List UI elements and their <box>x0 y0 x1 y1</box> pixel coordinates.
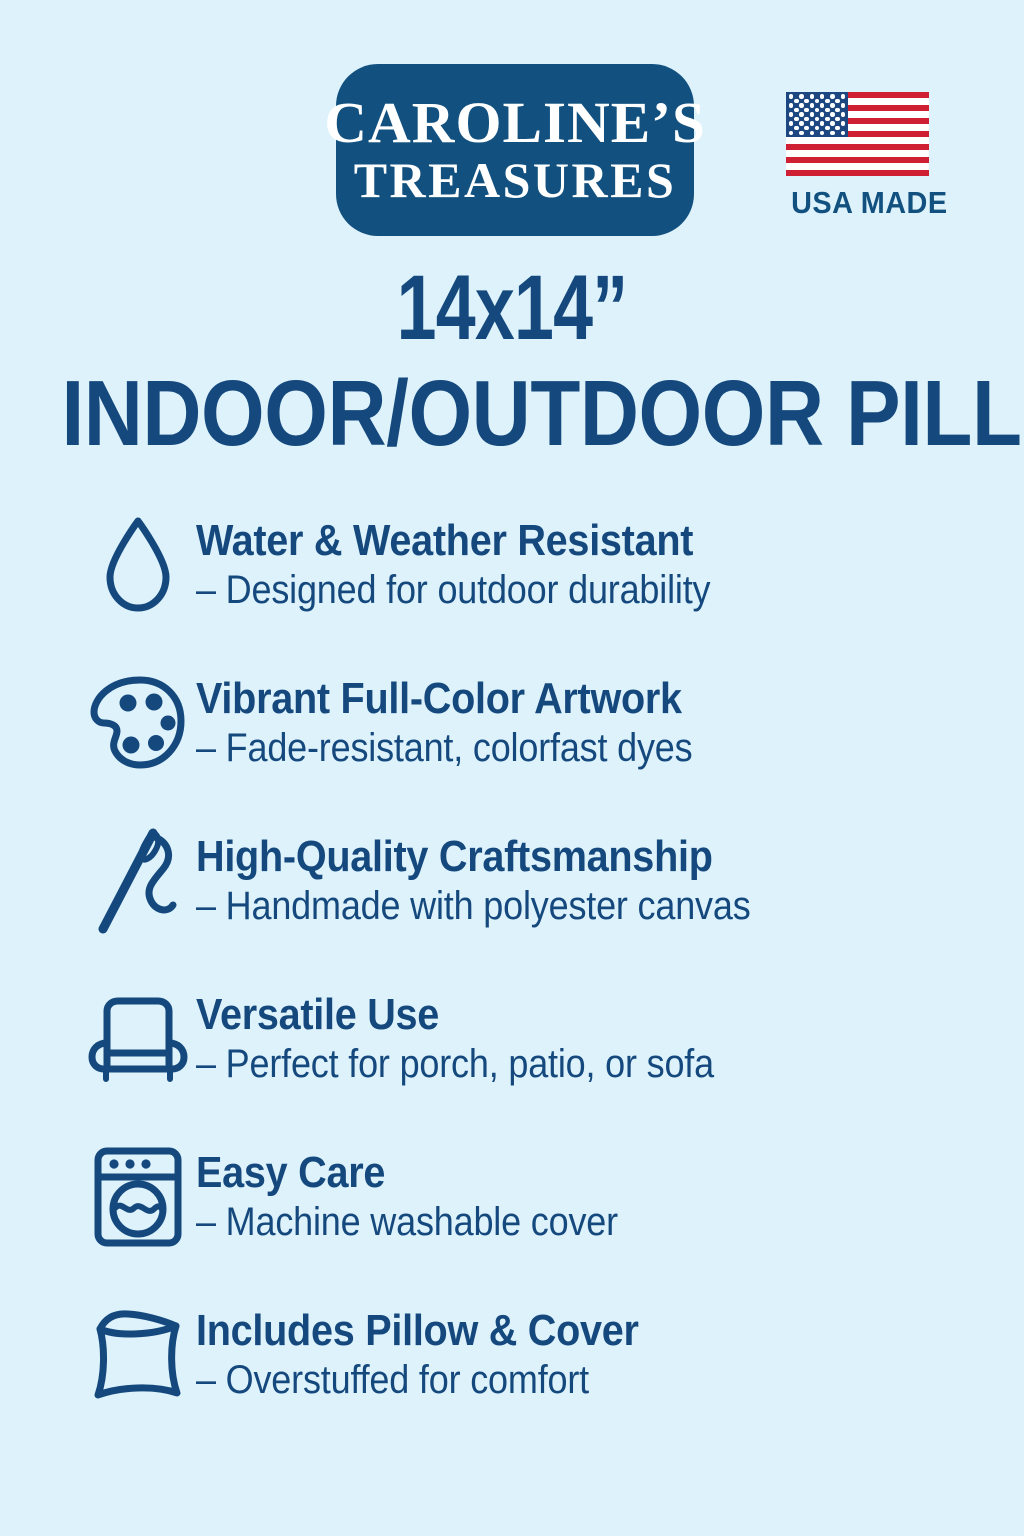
flag-star <box>815 126 819 130</box>
flag-star <box>841 103 845 107</box>
feature-text: Easy Care – Machine washable cover <box>196 1149 665 1244</box>
flag-star <box>841 131 845 135</box>
flag-stripe <box>786 170 929 176</box>
flag-star <box>799 131 803 135</box>
list-item: Vibrant Full-Color Artwork – Fade-resist… <box>0 644 1024 802</box>
flag-star <box>830 121 834 125</box>
usa-made-label: USA MADE <box>791 185 927 221</box>
feature-title: Versatile Use <box>196 991 714 1039</box>
feature-title: Water & Weather Resistant <box>196 517 710 565</box>
flag-star <box>799 94 803 98</box>
feature-subtitle: – Perfect for porch, patio, or sofa <box>196 1042 714 1087</box>
list-item: Includes Pillow & Cover – Overstuffed fo… <box>0 1276 1024 1434</box>
armchair-icon <box>82 995 194 1083</box>
flag-star <box>794 126 798 130</box>
list-item: High-Quality Craftsmanship – Handmade wi… <box>0 802 1024 960</box>
flag-star <box>835 117 839 121</box>
feature-title: Includes Pillow & Cover <box>196 1307 639 1355</box>
flag-star <box>815 117 819 121</box>
flag-star <box>789 131 793 135</box>
usa-flag-icon <box>786 92 929 176</box>
flag-star <box>804 117 808 121</box>
flag-star <box>830 94 834 98</box>
feature-subtitle: – Fade-resistant, colorfast dyes <box>196 726 692 771</box>
flag-star <box>835 108 839 112</box>
flag-stripe <box>786 157 929 163</box>
flag-star <box>789 94 793 98</box>
feature-title: High-Quality Craftsmanship <box>196 833 751 881</box>
feature-text: Versatile Use – Perfect for porch, patio… <box>196 991 772 1086</box>
flag-star <box>794 117 798 121</box>
washing-machine-icon <box>82 1145 194 1249</box>
flag-star <box>810 94 814 98</box>
flag-star <box>825 126 829 130</box>
flag-star <box>810 131 814 135</box>
feature-subtitle: – Designed for outdoor durability <box>196 568 710 613</box>
brand-logo: CAROLINE’S TREASURES <box>336 64 694 236</box>
flag-star <box>841 94 845 98</box>
flag-star <box>830 103 834 107</box>
flag-star <box>830 131 834 135</box>
flag-star <box>835 99 839 103</box>
list-item: Water & Weather Resistant – Designed for… <box>0 486 1024 644</box>
feature-list: Water & Weather Resistant – Designed for… <box>0 486 1024 1434</box>
brand-logo-line2: TREASURES <box>354 154 677 207</box>
list-item: Easy Care – Machine washable cover <box>0 1118 1024 1276</box>
flag-star <box>825 99 829 103</box>
flag-star <box>804 108 808 112</box>
flag-star <box>799 121 803 125</box>
water-drop-icon <box>82 515 194 615</box>
product-title: INDOOR/OUTDOOR PILLOW <box>61 367 962 460</box>
pillow-icon <box>82 1307 194 1403</box>
flag-star <box>789 103 793 107</box>
page-title: 14x14” INDOOR/OUTDOOR PILLOW <box>0 262 1024 460</box>
flag-star <box>830 112 834 116</box>
flag-union <box>786 92 848 137</box>
flag-star <box>804 99 808 103</box>
feature-text: Water & Weather Resistant – Designed for… <box>196 517 768 612</box>
flag-star <box>799 103 803 107</box>
paint-palette-icon <box>82 673 194 773</box>
product-size: 14x14” <box>113 262 912 354</box>
feature-text: Includes Pillow & Cover – Overstuffed fo… <box>196 1307 688 1402</box>
flag-star <box>810 121 814 125</box>
feature-title: Easy Care <box>196 1149 618 1197</box>
flag-star <box>825 117 829 121</box>
flag-star <box>810 103 814 107</box>
flag-star <box>794 99 798 103</box>
flag-star <box>820 94 824 98</box>
flag-star <box>820 121 824 125</box>
flag-star <box>820 131 824 135</box>
brand-logo-line1: CAROLINE’S <box>324 93 706 152</box>
feature-subtitle: – Machine washable cover <box>196 1200 618 1245</box>
flag-star <box>799 112 803 116</box>
feature-subtitle: – Handmade with polyester canvas <box>196 884 751 929</box>
flag-star <box>841 121 845 125</box>
flag-star <box>789 112 793 116</box>
list-item: Versatile Use – Perfect for porch, patio… <box>0 960 1024 1118</box>
flag-star <box>820 112 824 116</box>
feature-title: Vibrant Full-Color Artwork <box>196 675 692 723</box>
feature-text: Vibrant Full-Color Artwork – Fade-resist… <box>196 675 748 770</box>
flag-star <box>815 99 819 103</box>
flag-star <box>789 121 793 125</box>
flag-star <box>794 108 798 112</box>
flag-star <box>820 103 824 107</box>
header: CAROLINE’S TREASURES USA MADE <box>0 62 1024 237</box>
flag-star <box>815 108 819 112</box>
usa-made-badge: USA MADE <box>786 92 932 221</box>
flag-star <box>804 126 808 130</box>
flag-star <box>841 112 845 116</box>
feature-text: High-Quality Craftsmanship – Handmade wi… <box>196 833 812 928</box>
flag-stripe <box>786 144 929 150</box>
flag-star <box>835 126 839 130</box>
feature-subtitle: – Overstuffed for comfort <box>196 1358 639 1403</box>
flag-star <box>825 108 829 112</box>
flag-star <box>810 112 814 116</box>
needle-and-thread-icon <box>82 825 194 937</box>
